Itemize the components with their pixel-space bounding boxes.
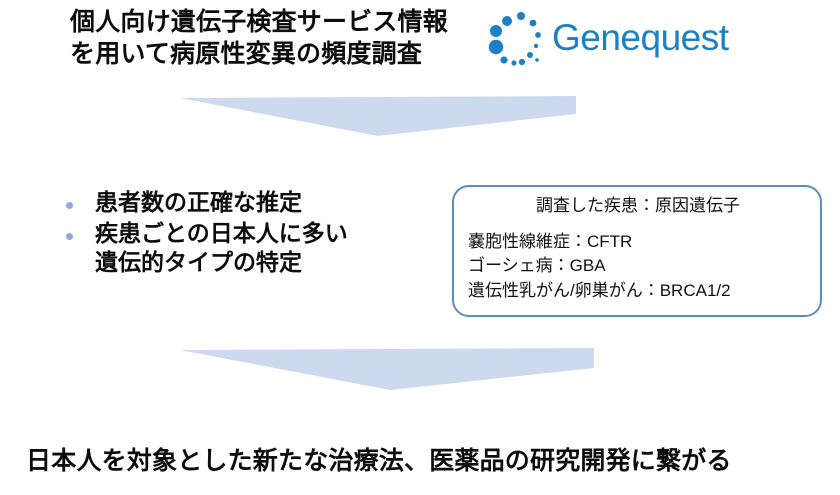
title-line-2: を用いて病原性変異の頻度調査: [70, 38, 490, 70]
logo-dot-5: [489, 40, 503, 54]
disease-gene-item: ゴーシェ病：GBA: [468, 254, 808, 279]
benefits-list: 患者数の正確な推定 疾患ごとの日本人に多い 遺伝的タイプの特定: [66, 188, 446, 280]
disease-gene-box: 調査した疾患：原因遺伝子 嚢胞性線維症：CFTR ゴーシェ病：GBA 遺伝性乳が…: [452, 185, 822, 317]
logo-dot-11: [519, 59, 525, 65]
logo-dot-4: [530, 20, 537, 27]
genequest-wordmark: Genequest: [552, 14, 729, 62]
logo-dot-6: [535, 32, 541, 38]
down-arrow-bottom: [180, 348, 594, 390]
bullet-dot-icon: [66, 233, 73, 240]
down-arrow-top-icon: [180, 96, 576, 136]
logo-dot-7: [534, 44, 538, 48]
logo-dot-10: [511, 60, 516, 65]
logo-dot-12: [535, 58, 539, 62]
bullet-dot-icon: [66, 202, 73, 209]
disease-gene-list: 嚢胞性線維症：CFTR ゴーシェ病：GBA 遺伝性乳がん/卵巣がん：BRCA1/…: [468, 230, 808, 304]
logo-dot-8: [500, 56, 507, 63]
logo-dot-9: [527, 52, 533, 58]
list-item-label-line-1: 疾患ごとの日本人に多い: [95, 220, 348, 246]
slide-title: 個人向け遺伝子検査サービス情報 を用いて病原性変異の頻度調査: [70, 6, 490, 70]
down-arrow-top: [180, 96, 576, 136]
down-arrow-bottom-icon: [180, 348, 594, 390]
list-item: 患者数の正確な推定: [66, 188, 446, 217]
genequest-logo: Genequest: [488, 4, 738, 76]
slide-canvas: 個人向け遺伝子検査サービス情報 を用いて病原性変異の頻度調査 Genequest…: [0, 0, 840, 495]
disease-gene-item: 遺伝性乳がん/卵巣がん：BRCA1/2: [468, 279, 808, 304]
logo-dot-2: [517, 12, 525, 20]
logo-dot-1: [502, 16, 512, 26]
list-item-label-line-2: 遺伝的タイプの特定: [95, 249, 302, 275]
list-item: 疾患ごとの日本人に多い 遺伝的タイプの特定: [66, 219, 446, 277]
disease-gene-box-heading: 調査した疾患：原因遺伝子: [468, 194, 808, 219]
list-item-label: 患者数の正確な推定: [95, 188, 302, 217]
logo-dot-3: [490, 25, 502, 37]
title-line-1: 個人向け遺伝子検査サービス情報: [70, 6, 490, 38]
disease-gene-item: 嚢胞性線維症：CFTR: [468, 230, 808, 255]
conclusion-text: 日本人を対象とした新たな治療法、医薬品の研究開発に繋がる: [26, 446, 732, 477]
genequest-dot-spiral-icon: [488, 8, 552, 70]
list-item-label: 疾患ごとの日本人に多い 遺伝的タイプの特定: [95, 219, 348, 277]
